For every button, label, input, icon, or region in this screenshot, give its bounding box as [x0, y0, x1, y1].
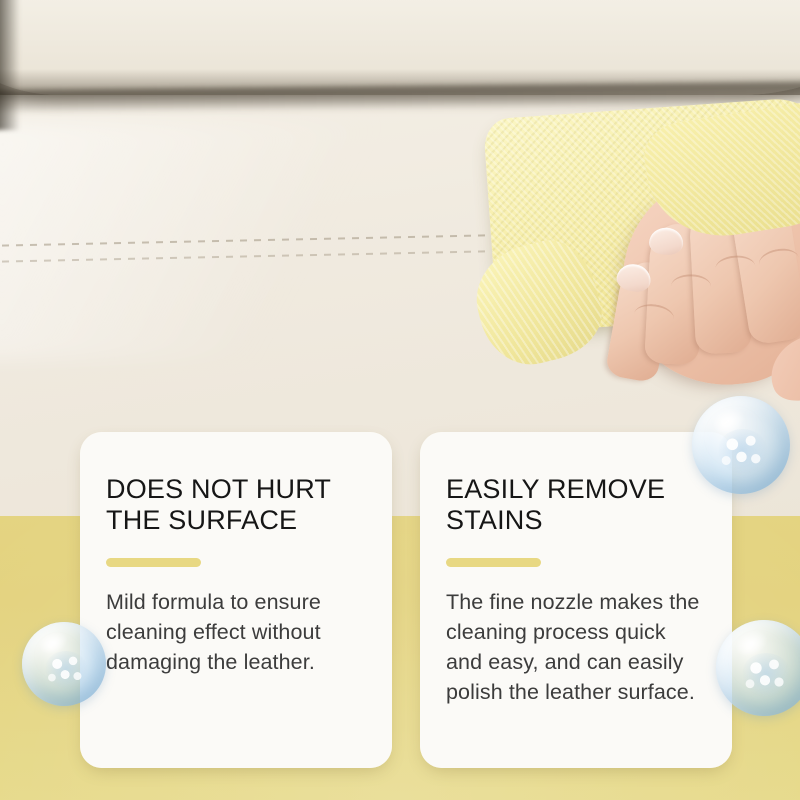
- card-description: The fine nozzle makes the cleaning proce…: [446, 587, 706, 707]
- photo-edge-shadow: [0, 0, 20, 130]
- sofa-back-cushion: [0, 0, 800, 95]
- water-bubble-icon: [22, 622, 106, 706]
- hand-knuckle: [671, 274, 711, 299]
- hero-photo: [0, 0, 800, 470]
- feature-card-does-not-hurt-the-surface: DOES NOT HURT THE SURFACE Mild formula t…: [80, 432, 392, 768]
- product-feature-poster: DOES NOT HURT THE SURFACE Mild formula t…: [0, 0, 800, 800]
- card-title: EASILY REMOVE STAINS: [446, 474, 706, 536]
- water-bubble-icon: [692, 396, 790, 494]
- card-divider: [446, 558, 541, 567]
- card-description: Mild formula to ensure cleaning effect w…: [106, 587, 366, 677]
- card-body: EASILY REMOVE STAINS The fine nozzle mak…: [420, 432, 732, 707]
- feature-card-easily-remove-stains: EASILY REMOVE STAINS The fine nozzle mak…: [420, 432, 732, 768]
- card-body: DOES NOT HURT THE SURFACE Mild formula t…: [80, 432, 392, 677]
- card-divider: [106, 558, 201, 567]
- card-title: DOES NOT HURT THE SURFACE: [106, 474, 366, 536]
